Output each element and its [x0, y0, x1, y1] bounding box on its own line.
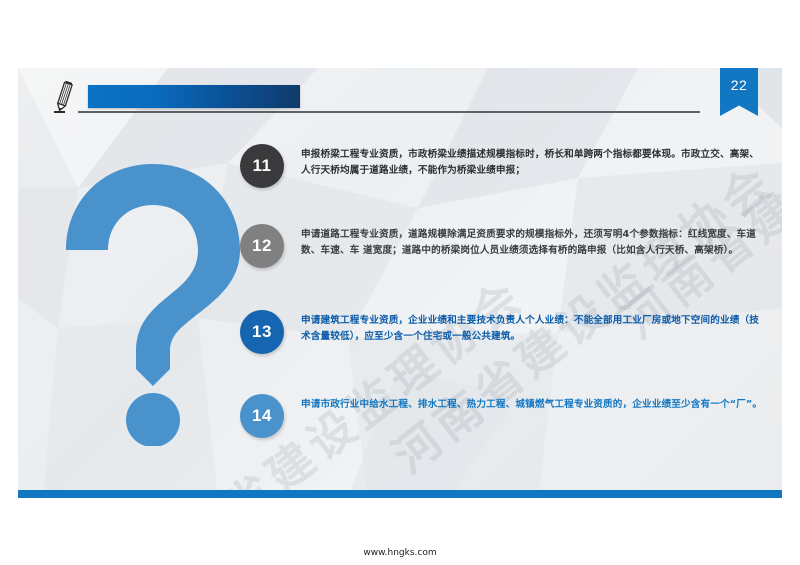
page-number-badge: 22: [720, 68, 758, 116]
item-number-badge: 13: [240, 310, 284, 354]
item-text: 申请市政行业中给水工程、排水工程、热力工程、城镇燃气工程专业资质的，企业业绩至少…: [301, 394, 768, 413]
list-item: 11 申报桥梁工程专业资质，市政桥梁业绩描述规模指标时，桥长和单跨两个指标都要体…: [240, 144, 768, 218]
item-number: 12: [252, 236, 272, 256]
item-number-badge: 14: [240, 394, 284, 438]
list-item: 13 申请建筑工程专业资质，企业业绩和主要技术负责人个人业绩：不能全部用工业厂房…: [240, 310, 768, 388]
list-item: 12 申请道路工程专业资质，道路规模除满足资质要求的规模指标外，还须写明4个参数…: [240, 224, 768, 304]
title-banner: [88, 85, 300, 108]
item-number-badge: 12: [240, 224, 284, 268]
document-page: 河南省建设监理协会 河南省建设监理协会 河南省建设监理协会: [0, 0, 800, 565]
item-text: 申请建筑工程专业资质，企业业绩和主要技术负责人个人业绩：不能全部用工业厂房或地下…: [301, 310, 768, 344]
item-number-badge: 11: [240, 144, 284, 188]
item-number: 13: [252, 322, 272, 342]
pencil-icon: [51, 80, 77, 114]
item-number: 14: [252, 406, 272, 426]
numbered-list: 11 申报桥梁工程专业资质，市政桥梁业绩描述规模指标时，桥长和单跨两个指标都要体…: [240, 144, 768, 460]
question-mark-icon: [48, 146, 258, 446]
item-text: 申报桥梁工程专业资质，市政桥梁业绩描述规模指标时，桥长和单跨两个指标都要体现。市…: [301, 144, 768, 178]
footer-url: www.hngks.com: [0, 548, 800, 558]
page-number-text: 22: [731, 77, 748, 93]
slide-header: 22: [18, 68, 782, 124]
item-number: 11: [253, 156, 272, 176]
slide-bottom-bar: [18, 490, 782, 498]
header-divider: [78, 111, 700, 113]
item-text: 申请道路工程专业资质，道路规模除满足资质要求的规模指标外，还须写明4个参数指标：…: [301, 224, 768, 258]
slide-canvas: 河南省建设监理协会 河南省建设监理协会 河南省建设监理协会: [18, 68, 782, 498]
list-item: 14 申请市政行业中给水工程、排水工程、热力工程、城镇燃气工程专业资质的，企业业…: [240, 394, 768, 454]
